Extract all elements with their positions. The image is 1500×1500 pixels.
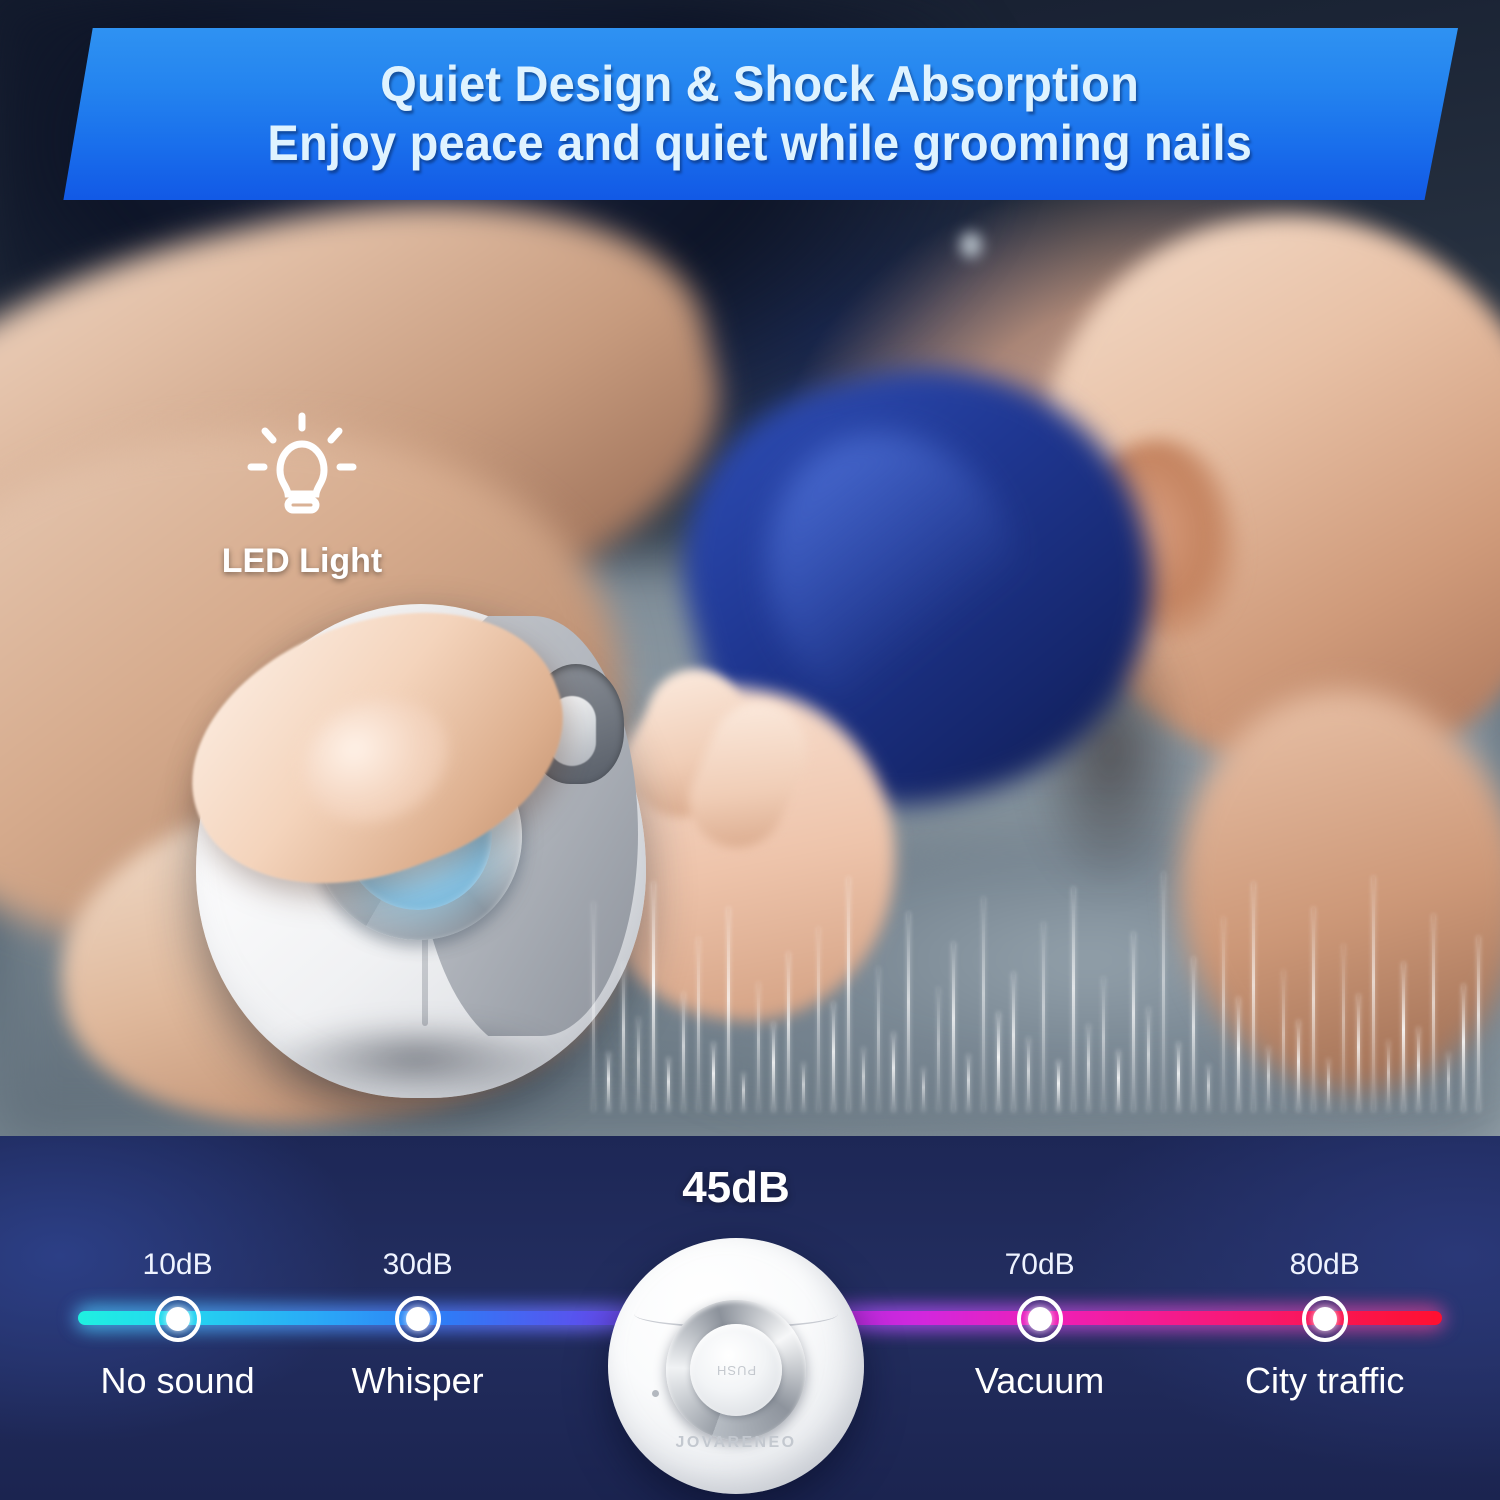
light-speck [960, 232, 982, 258]
product-marketing-image: LED Light Quiet Design & Shock Absorptio… [0, 0, 1500, 1500]
scale-marker-dot[interactable] [1302, 1296, 1348, 1342]
push-button-text: PUSH [716, 1363, 756, 1378]
led-light-callout: LED Light [212, 412, 392, 581]
marker-db-value: 70dB [1005, 1248, 1075, 1282]
marker-name-label: City traffic [1245, 1360, 1404, 1402]
sound-waveform [590, 862, 1490, 1112]
marker-name-label: Whisper [352, 1360, 484, 1402]
product-decibel-label: 45dB [608, 1163, 864, 1213]
product-push-button: PUSH [690, 1324, 782, 1416]
marker-name-label: Vacuum [975, 1360, 1104, 1402]
product-indicator-dot [652, 1390, 659, 1397]
device-shadow [216, 1004, 616, 1114]
product-brand-logo: JOVARENEO [608, 1434, 864, 1452]
marker-name-label: No sound [101, 1360, 255, 1402]
led-light-label: LED Light [212, 542, 392, 581]
product-top-view: PUSH JOVARENEO [608, 1238, 864, 1494]
lightbulb-icon [247, 412, 357, 530]
headline-banner: Quiet Design & Shock Absorption Enjoy pe… [62, 28, 1458, 200]
marker-db-value: 80dB [1290, 1248, 1360, 1282]
scale-marker-dot[interactable] [155, 1296, 201, 1342]
marker-db-value: 30dB [383, 1248, 453, 1282]
nail-trimmer-device [196, 604, 646, 1098]
scale-marker-dot[interactable] [395, 1296, 441, 1342]
scale-marker-dot[interactable] [1017, 1296, 1063, 1342]
headline-line-2: Enjoy peace and quiet while grooming nai… [268, 114, 1253, 172]
headline-line-1: Quiet Design & Shock Absorption [381, 56, 1140, 112]
marker-db-value: 10dB [143, 1248, 213, 1282]
